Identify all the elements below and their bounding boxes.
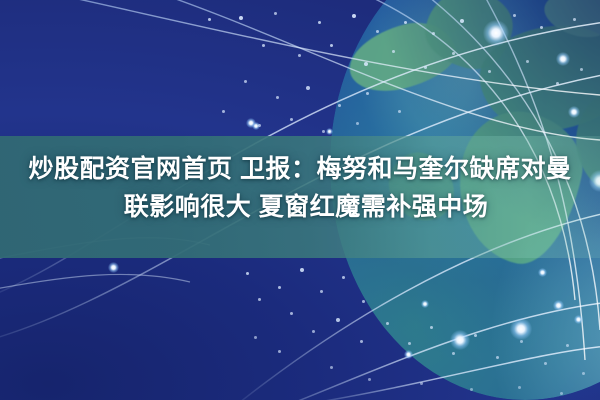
- news-banner-image: 炒股配资官网首页 卫报：梅努和马奎尔缺席对曼 联影响很大 夏窗红魔需补强中场: [0, 0, 600, 400]
- headline-line-2: 联影响很大 夏窗红魔需补强中场: [14, 188, 586, 226]
- headline-line-1: 炒股配资官网首页 卫报：梅努和马奎尔缺席对曼: [14, 150, 586, 188]
- headline-text: 炒股配资官网首页 卫报：梅努和马奎尔缺席对曼 联影响很大 夏窗红魔需补强中场: [0, 150, 600, 226]
